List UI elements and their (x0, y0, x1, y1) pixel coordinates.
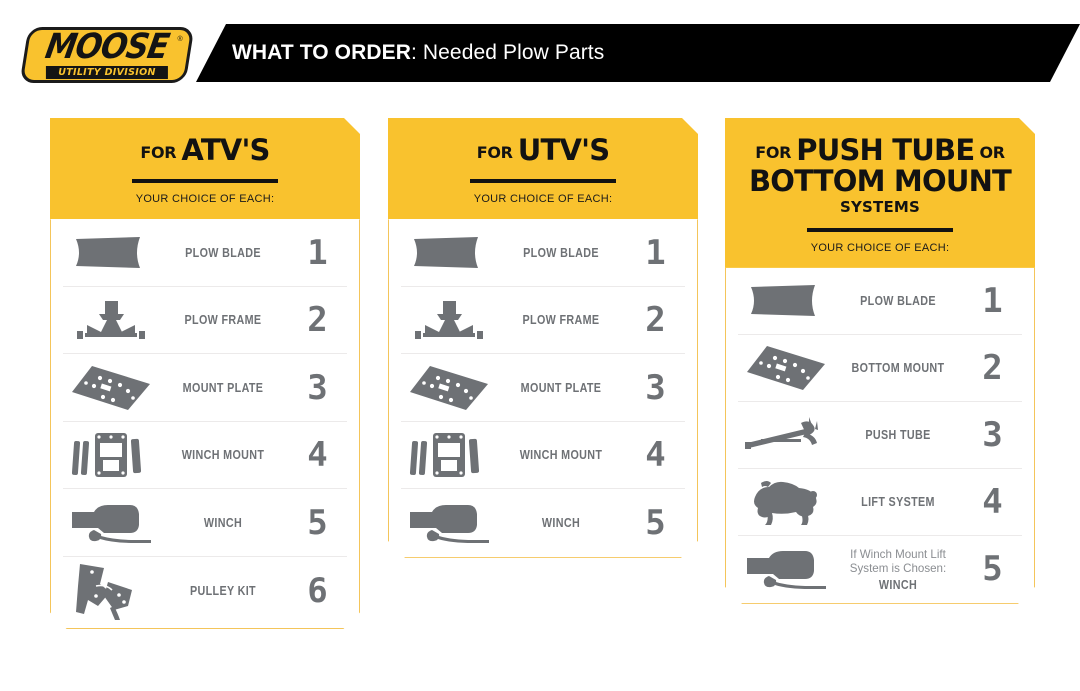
row-number: 1 (625, 236, 685, 270)
lift-system-icon (738, 477, 834, 527)
row-label: WINCH (506, 516, 616, 530)
row-number: 6 (287, 574, 347, 608)
card-push-title-main: PUSH TUBE (796, 133, 974, 167)
row-label: PLOW BLADE (843, 294, 953, 308)
row-number: 2 (962, 351, 1022, 385)
mount-plate-icon (401, 364, 497, 412)
card-push-divider (807, 228, 953, 232)
card-push-tube: FOR PUSH TUBE OR BOTTOM MOUNT SYSTEMS YO… (725, 118, 1035, 604)
table-row[interactable]: WINCH 5 (401, 489, 685, 557)
card-push-subtitle: YOUR CHOICE OF EACH: (739, 242, 1021, 254)
plow-blade-icon (401, 235, 497, 271)
bottom-mount-icon (738, 344, 834, 392)
row-label: PULLEY KIT (168, 584, 278, 598)
row-number: 3 (625, 371, 685, 405)
card-utv-header: FOR UTV'S YOUR CHOICE OF EACH: (388, 118, 698, 219)
table-row[interactable]: If Winch Mount Lift System is Chosen: WI… (738, 536, 1022, 603)
card-atv-title: FOR ATV'S (64, 135, 346, 166)
row-number: 3 (962, 418, 1022, 452)
table-row[interactable]: PLOW BLADE 1 (401, 219, 685, 287)
card-push-tube-title: FOR PUSH TUBE OR BOTTOM MOUNT SYSTEMS (739, 135, 1021, 215)
plow-frame-icon (401, 299, 497, 341)
table-row[interactable]: BOTTOM MOUNT 2 (738, 335, 1022, 402)
card-atv: FOR ATV'S YOUR CHOICE OF EACH: PLOW BLAD… (50, 118, 360, 629)
row-label: WINCH (168, 516, 278, 530)
card-utv-divider (470, 179, 616, 183)
winch-icon (401, 502, 497, 544)
table-row[interactable]: PLOW FRAME 2 (63, 287, 347, 355)
row-label: WINCH MOUNT (506, 448, 616, 462)
row-number: 1 (287, 236, 347, 270)
table-row[interactable]: PLOW BLADE 1 (63, 219, 347, 287)
card-utv-title-main: UTV'S (518, 133, 610, 167)
row-number: 2 (625, 303, 685, 337)
plow-frame-icon (63, 299, 159, 341)
winch-icon (63, 502, 159, 544)
push-tube-icon (738, 415, 834, 455)
row-label: MOUNT PLATE (506, 381, 616, 395)
row-number: 5 (287, 506, 347, 540)
row-label: PLOW FRAME (506, 313, 616, 327)
row-label: PUSH TUBE (843, 428, 953, 442)
winch-icon (738, 548, 834, 590)
card-push-title-conj: OR (979, 143, 1004, 162)
table-row[interactable]: WINCH 5 (63, 489, 347, 557)
table-row[interactable]: PLOW FRAME 2 (401, 287, 685, 355)
row-number: 4 (287, 438, 347, 472)
card-utv-title-prefix: FOR (477, 143, 513, 162)
card-utv-title: FOR UTV'S (402, 135, 684, 166)
row-number: 4 (962, 485, 1022, 519)
card-atv-body: PLOW BLADE 1 PLOW FRAME 2 MOUNT PLATE 3 (50, 219, 360, 629)
mount-plate-icon (63, 364, 159, 412)
table-row[interactable]: PULLEY KIT 6 (63, 557, 347, 625)
row-note: If Winch Mount Lift System is Chosen: (836, 547, 959, 575)
row-label: PLOW BLADE (506, 246, 616, 260)
plow-blade-icon (63, 235, 159, 271)
card-utv-subtitle: YOUR CHOICE OF EACH: (402, 193, 684, 205)
card-utv: FOR UTV'S YOUR CHOICE OF EACH: PLOW BLAD… (388, 118, 698, 558)
row-number: 5 (625, 506, 685, 540)
row-label: LIFT SYSTEM (843, 495, 953, 509)
card-push-title-line3: SYSTEMS (739, 199, 1021, 215)
row-number: 1 (962, 284, 1022, 318)
card-atv-subtitle: YOUR CHOICE OF EACH: (64, 193, 346, 205)
plow-blade-icon (738, 283, 834, 319)
card-push-title-line2: BOTTOM MOUNT (739, 166, 1021, 197)
table-row[interactable]: MOUNT PLATE 3 (63, 354, 347, 422)
card-push-tube-header: FOR PUSH TUBE OR BOTTOM MOUNT SYSTEMS YO… (725, 118, 1035, 268)
card-push-tube-body: PLOW BLADE 1 BOTTOM MOUNT 2 PUSH TUBE 3 (725, 268, 1035, 604)
winch-mount-icon (63, 431, 159, 479)
row-number: 2 (287, 303, 347, 337)
row-label-main: WINCH (843, 578, 953, 592)
card-atv-divider (132, 179, 278, 183)
table-row[interactable]: WINCH MOUNT 4 (401, 422, 685, 490)
card-atv-header: FOR ATV'S YOUR CHOICE OF EACH: (50, 118, 360, 219)
card-push-title-prefix: FOR (755, 143, 791, 162)
row-label: WINCH MOUNT (168, 448, 278, 462)
row-label: PLOW FRAME (168, 313, 278, 327)
product-cards: FOR ATV'S YOUR CHOICE OF EACH: PLOW BLAD… (0, 0, 1080, 691)
row-label: PLOW BLADE (168, 246, 278, 260)
card-atv-title-prefix: FOR (140, 143, 176, 162)
row-number: 5 (962, 552, 1022, 586)
row-label: If Winch Mount Lift System is Chosen: WI… (843, 547, 953, 592)
table-row[interactable]: MOUNT PLATE 3 (401, 354, 685, 422)
table-row[interactable]: WINCH MOUNT 4 (63, 422, 347, 490)
row-number: 4 (625, 438, 685, 472)
card-utv-body: PLOW BLADE 1 PLOW FRAME 2 MOUNT PLATE 3 (388, 219, 698, 558)
row-number: 3 (287, 371, 347, 405)
pulley-kit-icon (63, 562, 159, 620)
table-row[interactable]: LIFT SYSTEM 4 (738, 469, 1022, 536)
row-label: MOUNT PLATE (168, 381, 278, 395)
row-label: BOTTOM MOUNT (843, 361, 953, 375)
winch-mount-icon (401, 431, 497, 479)
card-atv-title-main: ATV'S (181, 133, 269, 167)
table-row[interactable]: PUSH TUBE 3 (738, 402, 1022, 469)
table-row[interactable]: PLOW BLADE 1 (738, 268, 1022, 335)
